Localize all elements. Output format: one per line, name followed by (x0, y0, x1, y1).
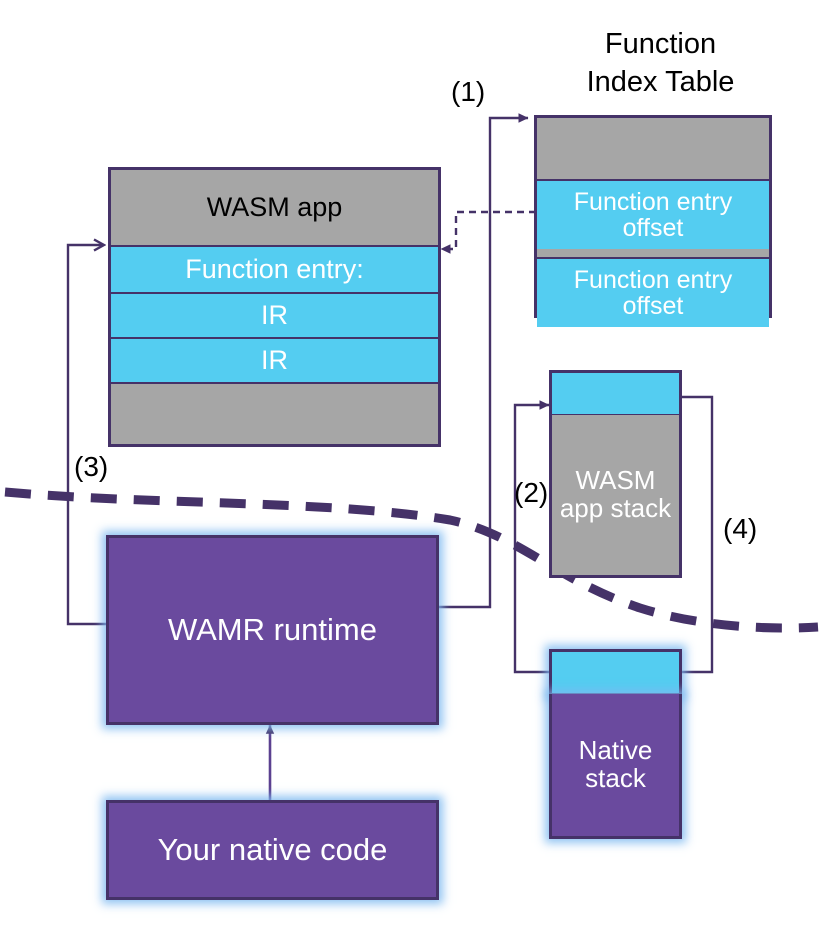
wasm-app-row-tail (111, 384, 438, 444)
wasm-app-stack-top-band (549, 370, 682, 417)
wamr-runtime-box: WAMR runtime (106, 535, 439, 725)
function-index-table-box: Function entry offset Function entry off… (534, 115, 772, 318)
fit-row-header (537, 118, 769, 179)
wasm-app-row-ir-2: IR (111, 339, 438, 384)
native-stack-box: Native stack (549, 649, 682, 839)
function-index-table-title: Function Index Table (528, 26, 793, 101)
step-label-1: (1) (451, 76, 485, 108)
connector-1-wamr-to-function-index-table (432, 118, 528, 607)
wasm-app-row-ir-1: IR (111, 294, 438, 339)
fit-row-offset-1: Function entry offset (537, 179, 769, 249)
wasm-app-stack-body: WASM app stack (549, 415, 682, 578)
diagram-canvas: Function Index Table WASM app Function e… (0, 0, 819, 925)
wasm-app-row-title: WASM app (111, 170, 438, 245)
step-label-3: (3) (74, 451, 108, 483)
wasm-app-stack-box: WASM app stack (549, 370, 682, 578)
wasm-app-box: WASM app Function entry: IR IR (108, 167, 441, 447)
native-stack-body: Native stack (549, 694, 682, 839)
step-label-4: (4) (723, 513, 757, 545)
wasm-app-row-function-entry: Function entry: (111, 245, 438, 294)
native-stack-top-band (549, 649, 682, 696)
step-label-2: (2) (514, 477, 548, 509)
fit-row-offset-2: Function entry offset (537, 257, 769, 327)
your-native-code-box: Your native code (106, 800, 439, 900)
connector-3-wamr-to-wasm-function-entry (68, 245, 108, 624)
